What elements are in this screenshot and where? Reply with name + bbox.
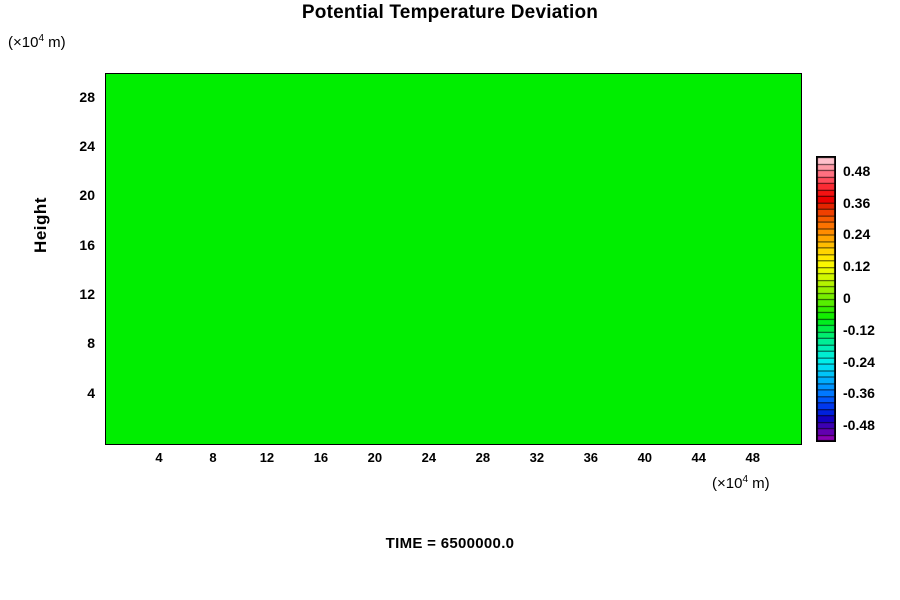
y-tick-label: 20 <box>55 187 95 203</box>
colorbar-tick-label: -0.24 <box>843 354 875 370</box>
colorbar-tick-label: 0.12 <box>843 258 870 274</box>
y-unit-prefix: (×10 <box>8 34 38 51</box>
x-tick-label: 44 <box>679 450 719 465</box>
colorbar-tick-label: 0.36 <box>843 195 870 211</box>
x-tick-label: 24 <box>409 450 449 465</box>
colorbar-tick-label: -0.36 <box>843 385 875 401</box>
x-tick-label: 8 <box>193 450 233 465</box>
x-tick-label: 32 <box>517 450 557 465</box>
y-axis-title: Height <box>31 180 51 270</box>
x-tick-label: 4 <box>139 450 179 465</box>
x-tick-label: 12 <box>247 450 287 465</box>
x-tick-label: 36 <box>571 450 611 465</box>
y-tick-label: 4 <box>55 385 95 401</box>
y-unit-suffix: m) <box>44 34 66 51</box>
colorbar-tick-label: -0.12 <box>843 322 875 338</box>
colorbar-tick-label: 0.24 <box>843 226 870 242</box>
x-axis-unit-label: (×104 m) <box>712 474 770 492</box>
x-tick-label: 20 <box>355 450 395 465</box>
y-tick-label: 24 <box>55 138 95 154</box>
time-annotation: TIME = 6500000.0 <box>0 535 900 552</box>
y-tick-label: 12 <box>55 286 95 302</box>
x-tick-label: 16 <box>301 450 341 465</box>
colorbar-tick-label: 0 <box>843 290 851 306</box>
y-tick-label: 28 <box>55 89 95 105</box>
colorbar-gradient <box>816 156 836 442</box>
y-axis-unit-label: (×104 m) <box>8 33 66 51</box>
x-unit-suffix: m) <box>748 475 770 492</box>
colorbar-tick-label: -0.48 <box>843 417 875 433</box>
x-tick-label: 40 <box>625 450 665 465</box>
colorbar[interactable] <box>816 156 836 442</box>
heatmap-canvas <box>106 74 801 444</box>
x-unit-prefix: (×10 <box>712 475 742 492</box>
y-tick-label: 16 <box>55 237 95 253</box>
colorbar-tick-label: 0.48 <box>843 163 870 179</box>
x-tick-label: 48 <box>733 450 773 465</box>
x-tick-label: 28 <box>463 450 503 465</box>
plot-area[interactable] <box>105 73 802 445</box>
page-title: Potential Temperature Deviation <box>0 2 900 24</box>
y-tick-label: 8 <box>55 335 95 351</box>
